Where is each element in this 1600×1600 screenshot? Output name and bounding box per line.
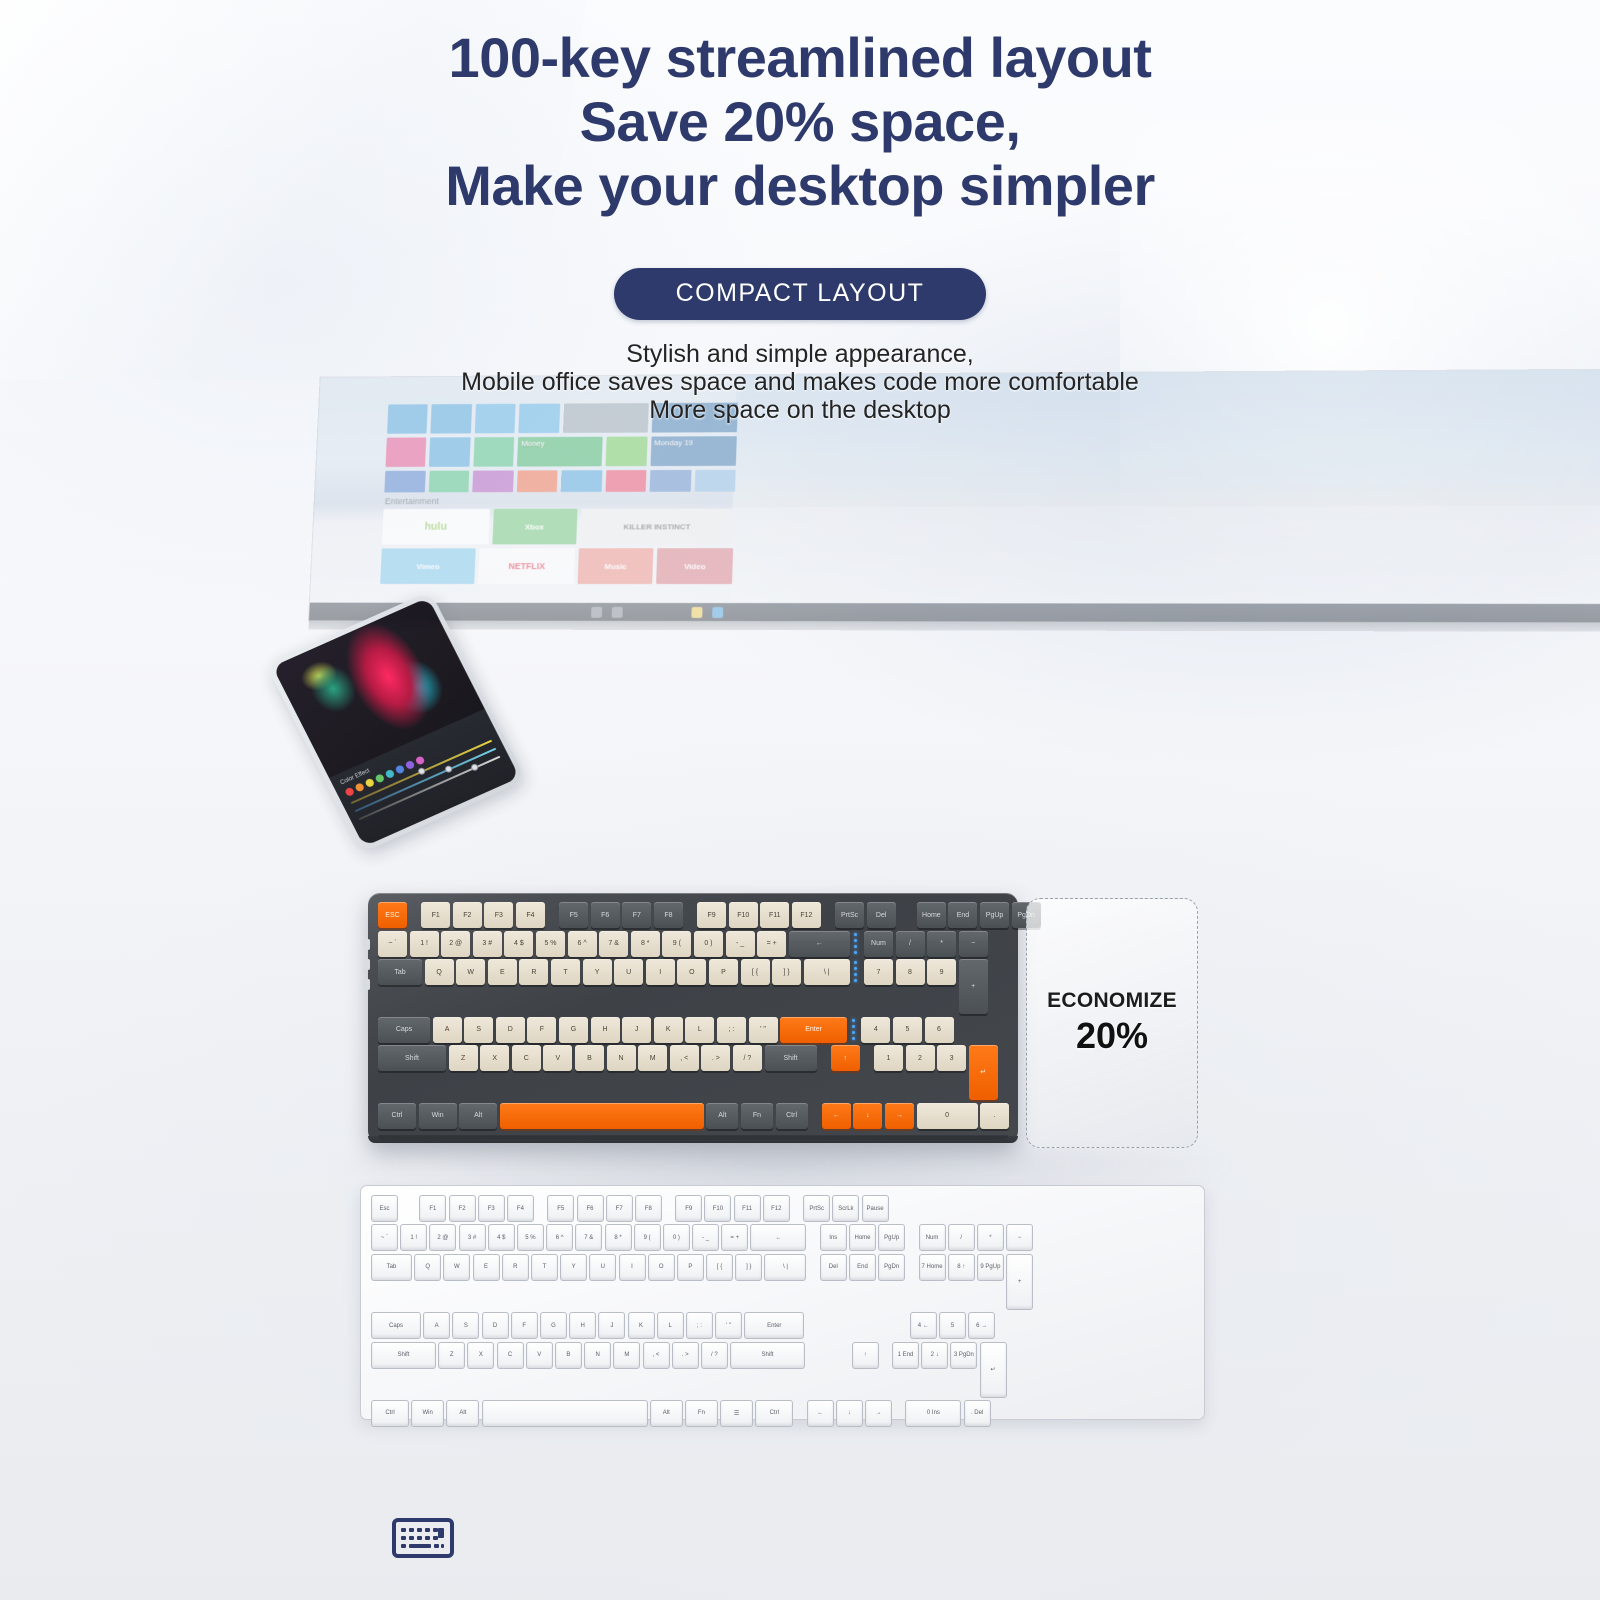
key-9[interactable]: 9 bbox=[927, 959, 956, 985]
status-leds bbox=[850, 1017, 859, 1040]
keyboard-icon bbox=[392, 1516, 454, 1560]
key-4[interactable]: 4 $ bbox=[504, 931, 533, 957]
key-space[interactable]: ← bbox=[750, 1224, 806, 1251]
key-8[interactable]: 8 * bbox=[631, 931, 660, 957]
swatch bbox=[374, 773, 385, 783]
key-f9[interactable]: F9 bbox=[675, 1195, 702, 1222]
tile-money: Money bbox=[517, 437, 603, 467]
key-pgup[interactable]: PgUp bbox=[878, 1224, 905, 1251]
key-num[interactable]: Num bbox=[864, 931, 893, 957]
led-indicator bbox=[854, 979, 857, 982]
key-z[interactable]: Z bbox=[438, 1342, 465, 1369]
tile-vimeo: Vimeo bbox=[380, 548, 476, 584]
key-space[interactable]: = + bbox=[757, 931, 786, 957]
key-j[interactable]: J bbox=[598, 1312, 625, 1339]
key-alt[interactable]: Alt bbox=[706, 1103, 738, 1129]
key-7[interactable]: 7 & bbox=[575, 1224, 602, 1251]
key-f3[interactable]: F3 bbox=[478, 1195, 505, 1222]
key-space[interactable]: - _ bbox=[726, 931, 755, 957]
key-pgup[interactable]: PgUp bbox=[980, 902, 1009, 928]
key-win[interactable]: Win bbox=[419, 1103, 457, 1129]
key-space[interactable] bbox=[482, 1400, 648, 1427]
key-g[interactable]: G bbox=[540, 1312, 567, 1339]
key-l[interactable]: L bbox=[657, 1312, 684, 1339]
led-indicator bbox=[854, 973, 857, 976]
key-6[interactable]: 6 bbox=[925, 1017, 954, 1043]
status-leds bbox=[852, 931, 861, 954]
economize-value: 20% bbox=[1076, 1015, 1148, 1057]
key-f9[interactable]: F9 bbox=[697, 902, 726, 928]
tile bbox=[516, 470, 557, 492]
key-pgdn[interactable]: PgDn bbox=[878, 1254, 905, 1281]
key-1[interactable]: 1 ! bbox=[400, 1224, 427, 1251]
key-f2[interactable]: F2 bbox=[449, 1195, 476, 1222]
tile bbox=[473, 437, 514, 467]
key-row-modifier-row: CtrlWinAltAltFnCtrl←↓→0. bbox=[378, 1103, 1010, 1129]
key-esc[interactable]: ESC bbox=[378, 902, 407, 928]
key-8[interactable]: 8 ↑ bbox=[948, 1254, 975, 1281]
key-row-qwerty-row: TabQWERTYUIOP[ {] }\ |789+ bbox=[378, 959, 1010, 1014]
key-2[interactable]: 2 ↓ bbox=[921, 1342, 948, 1369]
key-space[interactable]: / ? bbox=[733, 1045, 762, 1071]
side-indicator bbox=[365, 939, 370, 950]
key-row-shift-row: ShiftZXCVBNM, <. >/ ?Shift↑1 End2 ↓3 PgD… bbox=[371, 1342, 1194, 1398]
key-2[interactable]: 2 @ bbox=[441, 931, 470, 957]
key-l[interactable]: L bbox=[685, 1017, 714, 1043]
led-indicator bbox=[852, 1025, 855, 1028]
key-a[interactable]: A bbox=[433, 1017, 462, 1043]
key-alt[interactable]: Alt bbox=[459, 1103, 497, 1129]
slider-knob bbox=[470, 763, 480, 772]
key-n[interactable]: N bbox=[607, 1045, 636, 1071]
key-h[interactable]: H bbox=[569, 1312, 596, 1339]
tile-xbox: Xbox bbox=[492, 509, 577, 545]
key-1[interactable]: 1 ! bbox=[410, 931, 439, 957]
key-7[interactable]: 7 bbox=[864, 959, 893, 985]
led-indicator bbox=[854, 951, 857, 954]
key-i[interactable]: I bbox=[646, 959, 675, 985]
key-s[interactable]: S bbox=[464, 1017, 493, 1043]
key-p[interactable]: P bbox=[709, 959, 738, 985]
economize-title: ECONOMIZE bbox=[1047, 989, 1177, 1013]
key-0[interactable]: 0 bbox=[917, 1103, 978, 1129]
key-del[interactable]: . Del bbox=[964, 1400, 991, 1427]
key-p[interactable]: P bbox=[677, 1254, 704, 1281]
key-0[interactable]: 0 ) bbox=[694, 931, 723, 957]
key-space[interactable]: ← bbox=[789, 931, 850, 957]
key-space[interactable]: ☰ bbox=[720, 1400, 753, 1427]
key-space[interactable]: ↵ bbox=[969, 1045, 998, 1100]
key-5[interactable]: 5 % bbox=[517, 1224, 544, 1251]
key-7[interactable]: 7 & bbox=[599, 931, 628, 957]
key-c[interactable]: C bbox=[497, 1342, 524, 1369]
key-ctrl[interactable]: Ctrl bbox=[371, 1400, 409, 1427]
tile bbox=[384, 471, 425, 493]
key-8[interactable]: 8 * bbox=[605, 1224, 632, 1251]
tile bbox=[605, 470, 646, 492]
keyboard-front-lip bbox=[368, 1136, 1018, 1143]
key-space[interactable]: [ { bbox=[741, 959, 770, 985]
key-space[interactable]: , < bbox=[643, 1342, 670, 1369]
tile bbox=[428, 471, 469, 493]
key-ctrl[interactable]: Ctrl bbox=[378, 1103, 416, 1129]
key-shift[interactable]: Shift bbox=[371, 1342, 436, 1369]
key-6[interactable]: 6 → bbox=[968, 1312, 995, 1339]
key-space[interactable]: ↵ bbox=[980, 1342, 1007, 1398]
page-title: 100-key streamlined layout Save 20% spac… bbox=[0, 26, 1600, 217]
key-space[interactable]: → bbox=[865, 1400, 892, 1427]
key-m[interactable]: M bbox=[613, 1342, 640, 1369]
tile-music: Music bbox=[577, 548, 653, 584]
key-v[interactable]: V bbox=[526, 1342, 553, 1369]
key-t[interactable]: T bbox=[531, 1254, 558, 1281]
explorer-icon bbox=[691, 606, 702, 617]
key-ctrl[interactable]: Ctrl bbox=[755, 1400, 793, 1427]
key-f11[interactable]: F11 bbox=[734, 1195, 761, 1222]
key-f[interactable]: F bbox=[511, 1312, 538, 1339]
key-g[interactable]: G bbox=[559, 1017, 588, 1043]
fullsize-keyboard-rows: EscF1F2F3F4F5F6F7F8F9F10F11F12PrtScScrLk… bbox=[371, 1195, 1194, 1427]
key-space[interactable]: ] } bbox=[735, 1254, 762, 1281]
key-d[interactable]: D bbox=[482, 1312, 509, 1339]
swatch bbox=[385, 769, 396, 779]
key-y[interactable]: Y bbox=[583, 959, 612, 985]
key-tab[interactable]: Tab bbox=[378, 959, 422, 985]
key-end[interactable]: End bbox=[948, 902, 977, 928]
key-del[interactable]: Del bbox=[867, 902, 896, 928]
key-w[interactable]: W bbox=[443, 1254, 470, 1281]
key-space[interactable]: − bbox=[959, 931, 988, 957]
key-f7[interactable]: F7 bbox=[622, 902, 651, 928]
key-b[interactable]: B bbox=[575, 1045, 604, 1071]
key-1-end[interactable]: 1 End bbox=[892, 1342, 919, 1369]
key-f6[interactable]: F6 bbox=[577, 1195, 604, 1222]
tile bbox=[472, 470, 513, 492]
tile-row: Money Monday 19 bbox=[386, 436, 737, 467]
key-space[interactable]: . > bbox=[672, 1342, 699, 1369]
key-win[interactable]: Win bbox=[411, 1400, 444, 1427]
key-f8[interactable]: F8 bbox=[635, 1195, 662, 1222]
key-shift[interactable]: Shift bbox=[730, 1342, 805, 1369]
tile bbox=[386, 437, 427, 466]
key-f4[interactable]: F4 bbox=[516, 902, 545, 928]
key-home[interactable]: Home bbox=[849, 1224, 876, 1251]
key-f7[interactable]: F7 bbox=[606, 1195, 633, 1222]
key-alt[interactable]: Alt bbox=[446, 1400, 479, 1427]
key-space[interactable]: + bbox=[1006, 1254, 1033, 1310]
key-esc[interactable]: Esc bbox=[371, 1195, 398, 1222]
key-space[interactable]: ; : bbox=[717, 1017, 746, 1043]
key-o[interactable]: O bbox=[648, 1254, 675, 1281]
key-prtsc[interactable]: PrtSc bbox=[835, 902, 864, 928]
key-h[interactable]: H bbox=[591, 1017, 620, 1043]
key-a[interactable]: A bbox=[423, 1312, 450, 1339]
tile bbox=[606, 437, 648, 467]
key-space[interactable]: / bbox=[948, 1224, 975, 1251]
key-t[interactable]: T bbox=[551, 959, 580, 985]
key-f[interactable]: F bbox=[527, 1017, 556, 1043]
key-space[interactable]: = + bbox=[721, 1224, 748, 1251]
compact-layout-badge: COMPACT LAYOUT bbox=[614, 268, 987, 320]
key-alt[interactable]: Alt bbox=[650, 1400, 683, 1427]
key-2[interactable]: 2 bbox=[906, 1045, 935, 1071]
key-f12[interactable]: F12 bbox=[792, 902, 821, 928]
key-w[interactable]: W bbox=[456, 959, 485, 985]
key-space[interactable]: , < bbox=[670, 1045, 699, 1071]
key-5[interactable]: 5 bbox=[939, 1312, 966, 1339]
key-space[interactable]: ; : bbox=[686, 1312, 713, 1339]
key-d[interactable]: D bbox=[496, 1017, 525, 1043]
key-tab[interactable]: Tab bbox=[371, 1254, 412, 1281]
swatch bbox=[405, 760, 416, 770]
key-c[interactable]: C bbox=[512, 1045, 541, 1071]
compact-keyboard-rows: ESCF1F2F3F4F5F6F7F8F9F10F11F12PrtScDelHo… bbox=[378, 902, 1010, 1129]
led-indicator bbox=[852, 1031, 855, 1034]
subtitle-text: Stylish and simple appearance, Mobile of… bbox=[0, 340, 1600, 424]
tile-row-small bbox=[384, 470, 735, 493]
key-fn[interactable]: Fn bbox=[685, 1400, 718, 1427]
key-caps[interactable]: Caps bbox=[378, 1017, 430, 1043]
tile-label: Money bbox=[518, 437, 603, 450]
key-space[interactable]: - _ bbox=[692, 1224, 719, 1251]
key-4[interactable]: 4 bbox=[861, 1017, 890, 1043]
key-f1[interactable]: F1 bbox=[421, 902, 450, 928]
tile-calendar: Monday 19 bbox=[650, 436, 736, 466]
tile-killer-instinct: KILLER INSTINCT bbox=[580, 508, 735, 544]
key-9-pgup[interactable]: 9 PgUp bbox=[977, 1254, 1004, 1281]
led-indicator bbox=[854, 945, 857, 948]
key-o[interactable]: O bbox=[677, 959, 706, 985]
led-indicator bbox=[852, 1037, 855, 1040]
key-8[interactable]: 8 bbox=[896, 959, 925, 985]
key-j[interactable]: J bbox=[622, 1017, 651, 1043]
slider-knob bbox=[444, 765, 454, 774]
key-caps[interactable]: Caps bbox=[371, 1312, 421, 1339]
swatch bbox=[415, 755, 426, 765]
key-r[interactable]: R bbox=[519, 959, 548, 985]
key-row-function-row: EscF1F2F3F4F5F6F7F8F9F10F11F12PrtScScrLk… bbox=[371, 1195, 1194, 1222]
key-space[interactable]: . bbox=[980, 1103, 1009, 1129]
key-space[interactable]: / ? bbox=[701, 1342, 728, 1369]
key-space[interactable] bbox=[500, 1103, 704, 1129]
led-indicator bbox=[852, 1019, 855, 1022]
key-3-pgdn[interactable]: 3 PgDn bbox=[950, 1342, 977, 1369]
led-indicator bbox=[854, 967, 857, 970]
key-space[interactable]: * bbox=[977, 1224, 1004, 1251]
key-x[interactable]: X bbox=[467, 1342, 494, 1369]
swatch bbox=[395, 764, 406, 774]
key-z[interactable]: Z bbox=[449, 1045, 478, 1071]
key-f10[interactable]: F10 bbox=[729, 902, 758, 928]
key-f1[interactable]: F1 bbox=[419, 1195, 446, 1222]
key-space[interactable]: ] } bbox=[772, 959, 801, 985]
key-space[interactable]: ↓ bbox=[836, 1400, 863, 1427]
key-num[interactable]: Num bbox=[919, 1224, 946, 1251]
tile bbox=[561, 470, 602, 492]
tile bbox=[429, 437, 470, 467]
key-space[interactable]: * bbox=[927, 931, 956, 957]
key-u[interactable]: U bbox=[614, 959, 643, 985]
key-pause[interactable]: Pause bbox=[862, 1195, 889, 1222]
key-row-qwerty-row: TabQWERTYUIOP[ {] }\ |DelEndPgDn7 Home8 … bbox=[371, 1254, 1194, 1310]
key-enter[interactable]: Enter bbox=[744, 1312, 804, 1339]
slider-knob bbox=[417, 767, 427, 776]
key-row-home-row: CapsASDFGHJKL; :' "Enter456 bbox=[378, 1017, 1010, 1043]
key-space[interactable]: / bbox=[896, 931, 925, 957]
swatch bbox=[344, 787, 355, 797]
key-row-number-row: ~ `1 !2 @3 #4 $5 %6 ^7 &8 *9 (0 )- _= +←… bbox=[371, 1224, 1194, 1251]
compact-keyboard: ESCF1F2F3F4F5F6F7F8F9F10F11F12PrtScDelHo… bbox=[368, 893, 1018, 1143]
key-2[interactable]: 2 @ bbox=[429, 1224, 456, 1251]
key-space[interactable]: → bbox=[885, 1103, 914, 1129]
key-k[interactable]: K bbox=[628, 1312, 655, 1339]
key-e[interactable]: E bbox=[473, 1254, 500, 1281]
key-3[interactable]: 3 # bbox=[473, 931, 502, 957]
key-i[interactable]: I bbox=[619, 1254, 646, 1281]
key-v[interactable]: V bbox=[543, 1045, 572, 1071]
key-enter[interactable]: Enter bbox=[780, 1017, 847, 1043]
key-space[interactable]: − bbox=[1006, 1224, 1033, 1251]
task-view-icon bbox=[612, 606, 623, 617]
swatch bbox=[354, 782, 365, 792]
key-space[interactable]: ~ ` bbox=[378, 931, 407, 957]
key-ctrl[interactable]: Ctrl bbox=[776, 1103, 808, 1129]
key-del[interactable]: Del bbox=[820, 1254, 847, 1281]
key-4[interactable]: 4 ← bbox=[910, 1312, 937, 1339]
key-space[interactable]: \ | bbox=[804, 959, 850, 985]
tile-hulu: hulu bbox=[382, 509, 490, 545]
key-home[interactable]: Home bbox=[917, 902, 946, 928]
led-indicator bbox=[854, 939, 857, 942]
key-s[interactable]: S bbox=[452, 1312, 479, 1339]
key-space[interactable]: ↓ bbox=[853, 1103, 882, 1129]
key-u[interactable]: U bbox=[589, 1254, 616, 1281]
key-n[interactable]: N bbox=[584, 1342, 611, 1369]
key-6[interactable]: 6 ^ bbox=[568, 931, 597, 957]
tile bbox=[650, 470, 691, 492]
start-menu-tiles: Money Monday 19 Entertainment hulu bbox=[380, 403, 738, 588]
side-indicator bbox=[365, 979, 370, 990]
key-b[interactable]: B bbox=[555, 1342, 582, 1369]
key-m[interactable]: M bbox=[638, 1045, 667, 1071]
key-r[interactable]: R bbox=[502, 1254, 529, 1281]
fullsize-keyboard: EscF1F2F3F4F5F6F7F8F9F10F11F12PrtScScrLk… bbox=[360, 1185, 1205, 1420]
key-4[interactable]: 4 $ bbox=[488, 1224, 515, 1251]
key-1[interactable]: 1 bbox=[874, 1045, 903, 1071]
key-6[interactable]: 6 ^ bbox=[546, 1224, 573, 1251]
key-f4[interactable]: F4 bbox=[507, 1195, 534, 1222]
key-scrlk[interactable]: ScrLk bbox=[832, 1195, 859, 1222]
key-f3[interactable]: F3 bbox=[484, 902, 513, 928]
key-f10[interactable]: F10 bbox=[704, 1195, 731, 1222]
key-shift[interactable]: Shift bbox=[378, 1045, 446, 1071]
key-space[interactable]: ' " bbox=[749, 1017, 778, 1043]
side-indicator bbox=[365, 959, 370, 970]
key-9[interactable]: 9 ( bbox=[662, 931, 691, 957]
key-9[interactable]: 9 ( bbox=[634, 1224, 661, 1251]
key-end[interactable]: End bbox=[849, 1254, 876, 1281]
key-prtsc[interactable]: PrtSc bbox=[803, 1195, 830, 1222]
store-icon bbox=[712, 607, 723, 618]
tile-video: Video bbox=[657, 548, 734, 584]
key-row-number-row: ~ `1 !2 @3 #4 $5 %6 ^7 &8 *9 (0 )- _= +←… bbox=[378, 931, 1010, 957]
key-3[interactable]: 3 bbox=[937, 1045, 966, 1071]
key-space[interactable]: \ | bbox=[764, 1254, 806, 1281]
key-row-modifier-row: CtrlWinAltAltFn☰Ctrl←↓→0 Ins. Del bbox=[371, 1400, 1194, 1427]
key-row-shift-row: ShiftZXCVBNM, <. >/ ?Shift↑123↵ bbox=[378, 1045, 1010, 1100]
key-0[interactable]: 0 ) bbox=[663, 1224, 690, 1251]
key-y[interactable]: Y bbox=[560, 1254, 587, 1281]
key-f8[interactable]: F8 bbox=[654, 902, 683, 928]
key-f2[interactable]: F2 bbox=[453, 902, 482, 928]
tile bbox=[694, 470, 736, 492]
economize-callout: ECONOMIZE 20% bbox=[1026, 898, 1198, 1148]
key-7-home[interactable]: 7 Home bbox=[919, 1254, 946, 1281]
search-icon bbox=[591, 606, 602, 617]
key-space[interactable]: + bbox=[959, 959, 988, 1014]
key-space[interactable]: ← bbox=[807, 1400, 834, 1427]
led-indicator bbox=[854, 961, 857, 964]
key-space[interactable]: ← bbox=[822, 1103, 851, 1129]
key-f11[interactable]: F11 bbox=[760, 902, 789, 928]
key-f6[interactable]: F6 bbox=[591, 902, 620, 928]
key-space[interactable]: ' " bbox=[715, 1312, 742, 1339]
swatch bbox=[364, 778, 375, 788]
key-space[interactable]: . > bbox=[701, 1045, 730, 1071]
tiles-section-label: Entertainment bbox=[385, 496, 735, 507]
key-ins[interactable]: Ins bbox=[820, 1224, 847, 1251]
key-f12[interactable]: F12 bbox=[763, 1195, 790, 1222]
key-shift[interactable]: Shift bbox=[765, 1045, 817, 1071]
entertainment-row: Vimeo NETFLIX Music Video bbox=[380, 548, 733, 584]
key-q[interactable]: Q bbox=[414, 1254, 441, 1281]
entertainment-row: hulu Xbox KILLER INSTINCT bbox=[382, 508, 734, 544]
status-leds bbox=[852, 959, 861, 982]
key-k[interactable]: K bbox=[654, 1017, 683, 1043]
tile-netflix: NETFLIX bbox=[479, 548, 575, 584]
key-space[interactable]: ↑ bbox=[831, 1045, 860, 1071]
key-5[interactable]: 5 % bbox=[536, 931, 565, 957]
key-f5[interactable]: F5 bbox=[559, 902, 588, 928]
led-indicator bbox=[854, 933, 857, 936]
key-row-home-row: CapsASDFGHJKL; :' "Enter4 ←56 → bbox=[371, 1312, 1194, 1339]
key-5[interactable]: 5 bbox=[893, 1017, 922, 1043]
key-3[interactable]: 3 # bbox=[459, 1224, 486, 1251]
key-fn[interactable]: Fn bbox=[741, 1103, 773, 1129]
key-q[interactable]: Q bbox=[425, 959, 454, 985]
badge-container: COMPACT LAYOUT bbox=[0, 268, 1600, 320]
key-e[interactable]: E bbox=[488, 959, 517, 985]
key-space[interactable]: [ { bbox=[706, 1254, 733, 1281]
key-x[interactable]: X bbox=[480, 1045, 509, 1071]
key-space[interactable]: ~ ` bbox=[371, 1224, 398, 1251]
tile-label: Monday 19 bbox=[651, 436, 737, 449]
key-0-ins[interactable]: 0 Ins bbox=[905, 1400, 961, 1427]
key-f5[interactable]: F5 bbox=[547, 1195, 574, 1222]
key-row-function-row: ESCF1F2F3F4F5F6F7F8F9F10F11F12PrtScDelHo… bbox=[378, 902, 1010, 928]
taskbar bbox=[309, 603, 1600, 623]
key-space[interactable]: ↑ bbox=[852, 1342, 879, 1369]
